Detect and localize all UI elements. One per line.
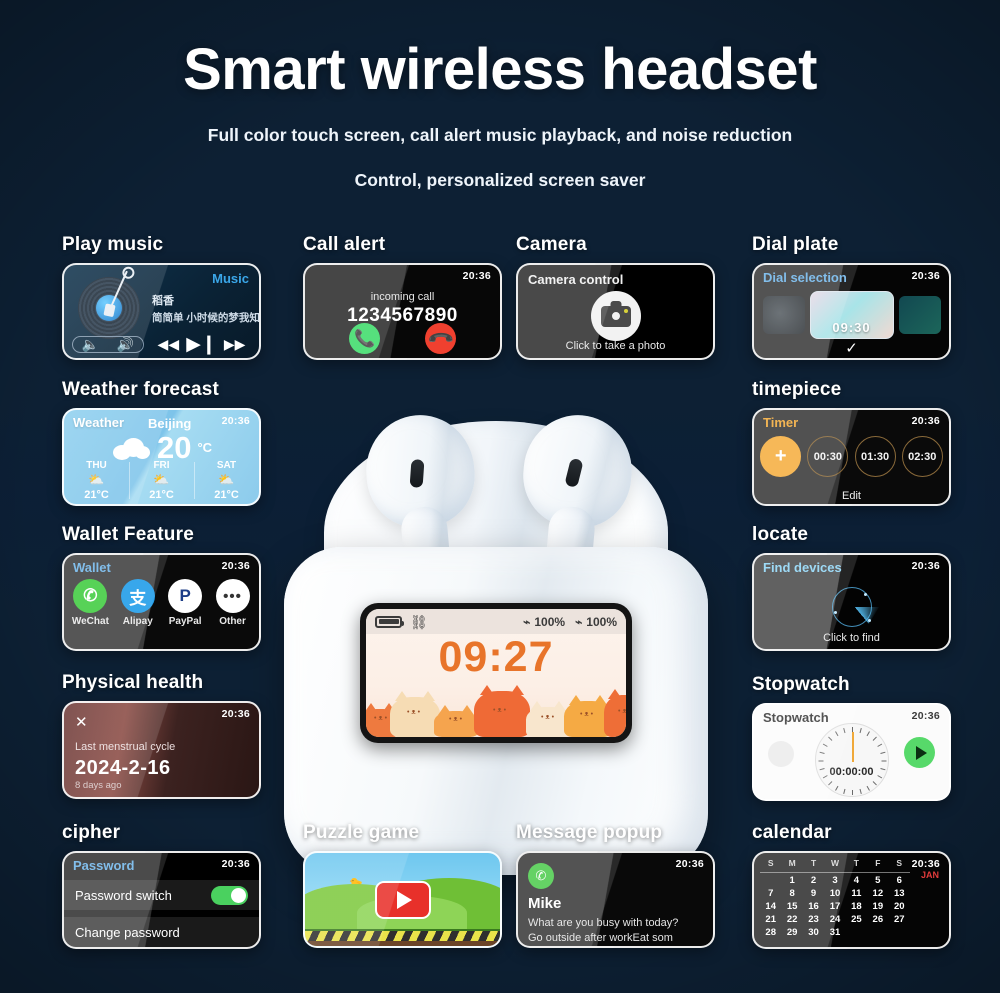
status-time: 20:36	[463, 270, 491, 282]
weather-day-name: SAT	[194, 460, 259, 471]
calendar-day[interactable]: 10	[824, 887, 845, 900]
stopwatch-start-button[interactable]	[904, 737, 935, 768]
wallet-screen[interactable]: Wallet 20:36 ✆WeChat支AlipayPPayPal•••Oth…	[62, 553, 261, 651]
camera-icon	[601, 306, 631, 327]
message-popup-screen[interactable]: ✆ 20:36 Mike What are you busy with toda…	[516, 851, 715, 948]
calendar-day[interactable]: 23	[803, 913, 824, 926]
stopwatch-tick	[843, 728, 845, 733]
locate-footer[interactable]: Click to find	[754, 632, 949, 644]
status-time: 20:36	[222, 708, 250, 720]
calendar-day[interactable]: 15	[781, 900, 802, 913]
feature-message-popup: Message popup ✆ 20:36 Mike What are you …	[516, 822, 715, 948]
calendar-weekday: T	[803, 857, 824, 870]
health-date: 2024-2-16	[75, 757, 171, 780]
feature-label-camera: Camera	[516, 234, 715, 256]
cloud-icon	[111, 436, 151, 460]
confirm-check-icon[interactable]: ✓	[754, 339, 949, 357]
feature-physical-health: Physical health ✕ 20:36 Last menstrual c…	[62, 672, 261, 799]
calendar-day[interactable]: 17	[824, 900, 845, 913]
calendar-day[interactable]: 3	[824, 874, 845, 887]
find-devices-title: Find devices	[763, 560, 842, 575]
feature-label-wallet: Wallet Feature	[62, 524, 261, 546]
calendar-day[interactable]: 18	[846, 900, 867, 913]
message-line-2: Go outside after workEat som	[528, 932, 673, 944]
weather-unit: °C	[197, 440, 212, 455]
calendar-week-row: 21222324252627	[760, 913, 910, 926]
weather-screen[interactable]: Weather Beijing 20:36 20 °C THU⛅21°CFRI⛅…	[62, 408, 261, 506]
feature-cipher: cipher Password 20:36 Password switch Ch…	[62, 822, 261, 949]
weather-day-name: FRI	[129, 460, 194, 471]
status-time: 20:36	[912, 270, 940, 282]
cat-figure: • ᴥ •	[604, 689, 626, 737]
stopwatch-tick	[880, 752, 885, 754]
calendar-day[interactable]: 9	[803, 887, 824, 900]
next-track-icon[interactable]: ▶▶	[224, 337, 246, 351]
feature-wallet: Wallet Feature Wallet 20:36 ✆WeChat支Alip…	[62, 524, 261, 651]
stopwatch-dial: 00:00:00	[815, 723, 889, 797]
camera-shutter-button[interactable]	[591, 291, 641, 341]
feature-label-puzzle-game: Puzzle game	[303, 822, 502, 844]
weather-day-icon: ⛅	[194, 472, 259, 488]
camera-screen[interactable]: Camera control Click to take a photo	[516, 263, 715, 360]
calendar-day[interactable]: 29	[781, 926, 802, 939]
link-icon: ⛓	[410, 615, 428, 629]
calendar-screen[interactable]: 20:36 JAN SMTWTFS12345678910111213141516…	[752, 851, 951, 949]
status-time: 20:36	[912, 858, 940, 870]
stopwatch-tick	[818, 761, 823, 762]
wallet-app-alipay[interactable]: 支Alipay	[117, 579, 159, 627]
calendar-weekday: T	[846, 857, 867, 870]
feature-puzzle-game: Puzzle game 🐤	[303, 822, 502, 948]
calendar-day-empty	[846, 926, 867, 939]
calendar-day[interactable]: 13	[889, 887, 910, 900]
wechat-icon: ✆	[528, 863, 554, 889]
feature-locate: locate Find devices 20:36 Click to find	[752, 524, 951, 651]
music-screen-title: Music	[212, 271, 249, 286]
battery-full-icon	[375, 616, 402, 628]
calendar-day[interactable]: 6	[889, 874, 910, 887]
message-line-1: What are you busy with today?	[528, 917, 678, 929]
calendar-day[interactable]: 1	[781, 874, 802, 887]
stopwatch-tick	[866, 731, 869, 736]
wallet-app-wechat[interactable]: ✆WeChat	[69, 579, 111, 627]
calendar-day[interactable]: 28	[760, 926, 781, 939]
left-bud-percent: 100%	[534, 615, 565, 629]
feature-call-alert: Call alert 20:36 incoming call 123456789…	[303, 234, 502, 360]
wallet-app-paypal[interactable]: PPayPal	[164, 579, 206, 627]
left-bud-battery: ⌁ 100%	[523, 615, 565, 629]
volume-up-icon[interactable]: 🔊	[117, 337, 134, 351]
calendar-day[interactable]: 25	[846, 913, 867, 926]
feature-weather-forecast: Weather forecast Weather Beijing 20:36 2…	[62, 379, 261, 506]
calendar-day[interactable]: 16	[803, 900, 824, 913]
call-alert-screen[interactable]: 20:36 incoming call 1234567890 📞 📞	[303, 263, 502, 360]
stopwatch-tick	[835, 786, 838, 791]
calendar-day[interactable]: 11	[846, 887, 867, 900]
calendar-day-empty	[867, 926, 888, 939]
calendar-day[interactable]: 19	[867, 900, 888, 913]
timer-edit-button[interactable]: Edit	[754, 490, 949, 502]
stopwatch-tick	[822, 744, 827, 747]
password-switch-row[interactable]: Password switch	[64, 880, 259, 910]
health-caption: Last menstrual cycle	[75, 741, 175, 753]
play-music-screen[interactable]: Music 稻香 简简单 小时候的梦我知道 🔈 🔊 ◀◀ ▶❙ ▶▶	[62, 263, 261, 360]
right-bud-percent: 100%	[586, 615, 617, 629]
weather-day-temp: 21°C	[194, 489, 259, 501]
calendar-day[interactable]: 8	[781, 887, 802, 900]
song-artist: 简简单 小时候的梦我知道	[152, 310, 261, 325]
calendar-week-row: 14151617181920	[760, 900, 910, 913]
calendar-day[interactable]: 7	[760, 887, 781, 900]
weather-temperature: 20	[157, 432, 191, 463]
feature-timepiece: timepiece Timer 20:36 +00:3001:3002:30 E…	[752, 379, 951, 506]
cipher-screen[interactable]: Password 20:36 Password switch Change pa…	[62, 851, 261, 949]
weather-day-name: THU	[64, 460, 129, 471]
timer-preset[interactable]: 01:30	[855, 436, 896, 477]
feature-play-music: Play music Music 稻香 简简单 小时候的梦我知道 🔈 🔊 ◀◀ …	[62, 234, 261, 360]
alipay-icon: 支	[121, 579, 155, 613]
feature-label-physical-health: Physical health	[62, 672, 261, 694]
calendar-weekday: M	[781, 857, 802, 870]
password-switch-label: Password switch	[75, 888, 172, 903]
camera-footer: Click to take a photo	[518, 340, 713, 352]
stopwatch-tick	[872, 737, 876, 741]
stopwatch-tick	[866, 786, 869, 791]
calendar-day[interactable]: 4	[846, 874, 867, 887]
feature-camera: Camera Camera control Click to take a ph…	[516, 234, 715, 360]
dial-preview-time: 09:30	[832, 320, 870, 335]
radar-icon	[824, 579, 880, 635]
calendar-day[interactable]: 30	[803, 926, 824, 939]
weather-forecast-days: THU⛅21°CFRI⛅21°CSAT⛅21°C	[64, 460, 259, 501]
play-triangle-icon	[916, 746, 927, 760]
calendar-day[interactable]: 5	[867, 874, 888, 887]
stopwatch-screen-title: Stopwatch	[763, 710, 829, 725]
calendar-day[interactable]: 26	[867, 913, 888, 926]
timer-screen[interactable]: Timer 20:36 +00:3001:3002:30 Edit	[752, 408, 951, 506]
weather-city: Beijing	[148, 416, 191, 431]
cartoon-cats-wallpaper: • ᴥ •• ᴥ •• ᴥ •• ᴥ •• ᴥ •• ᴥ •• ᴥ •	[366, 679, 626, 737]
stopwatch-tick	[859, 789, 861, 794]
calendar-day[interactable]: 12	[867, 887, 888, 900]
cat-figure: • ᴥ •	[390, 691, 440, 737]
wallet-app-list: ✆WeChat支AlipayPPayPal•••Other	[64, 579, 259, 627]
puzzle-game-screen[interactable]: 🐤	[303, 851, 502, 948]
stopwatch-tick	[859, 728, 861, 733]
paypal-icon: P	[168, 579, 202, 613]
calendar-week-row: 78910111213	[760, 887, 910, 900]
device-clock: 09:27	[366, 636, 626, 679]
device-touch-screen[interactable]: ⛓ ⌁ 100% ⌁ 100% 09:27 • ᴥ •• ᴥ •• ᴥ •• ᴥ…	[360, 603, 632, 743]
calendar-day-empty	[889, 926, 910, 939]
weather-day: FRI⛅21°C	[129, 460, 194, 501]
calendar-day[interactable]: 31	[824, 926, 845, 939]
stopwatch-tick	[819, 752, 824, 754]
previous-track-icon[interactable]: ◀◀	[158, 337, 180, 351]
health-days-ago: 8 days ago	[75, 780, 121, 791]
locate-screen[interactable]: Find devices 20:36 Click to find	[752, 553, 951, 651]
decline-call-button[interactable]: 📞	[425, 323, 456, 354]
stopwatch-tick	[852, 727, 853, 732]
cat-figure: • ᴥ •	[434, 705, 478, 737]
accept-call-button[interactable]: 📞	[349, 323, 380, 354]
stopwatch-tick	[835, 731, 838, 736]
stopwatch-tick	[852, 790, 853, 795]
volume-down-icon[interactable]: 🔈	[82, 337, 99, 351]
feature-label-calendar: calendar	[752, 822, 951, 844]
music-control-bar: 🔈 🔊 ◀◀ ▶❙ ▶▶	[64, 330, 259, 358]
dirt-strip	[305, 941, 500, 946]
stopwatch-tick	[828, 737, 832, 741]
stopwatch-screen[interactable]: Stopwatch 20:36 00:00:00	[752, 703, 951, 801]
status-time: 20:36	[912, 560, 940, 572]
calendar-weekday: F	[867, 857, 888, 870]
dial-option-selected[interactable]: 09:30	[810, 291, 894, 339]
dial-option-next[interactable]	[899, 296, 941, 334]
feature-label-timepiece: timepiece	[752, 379, 951, 401]
timer-preset-list: +00:3001:3002:30	[754, 436, 949, 477]
status-time: 20:36	[222, 415, 250, 427]
page-subtitle-2: Control, personalized screen saver	[0, 170, 1000, 191]
change-password-row[interactable]: Change password	[64, 917, 259, 947]
stopwatch-hand	[852, 732, 854, 762]
other-icon: •••	[216, 579, 250, 613]
wallet-screen-title: Wallet	[73, 560, 111, 575]
feature-label-cipher: cipher	[62, 822, 261, 844]
calendar-day[interactable]: 2	[803, 874, 824, 887]
play-game-button[interactable]	[375, 881, 431, 919]
password-toggle[interactable]	[211, 886, 248, 905]
status-time: 20:36	[912, 415, 940, 427]
change-password-label: Change password	[75, 925, 180, 940]
wallet-app-label: PayPal	[164, 616, 206, 627]
password-screen-title: Password	[73, 858, 134, 873]
calendar-grid[interactable]: SMTWTFS123456789101112131415161718192021…	[760, 857, 910, 939]
right-bud-battery: ⌁ 100%	[575, 615, 617, 629]
timer-screen-title: Timer	[763, 415, 798, 430]
weather-day-icon: ⛅	[64, 472, 129, 488]
feature-label-weather: Weather forecast	[62, 379, 261, 401]
wallet-app-other[interactable]: •••Other	[212, 579, 254, 627]
stopwatch-tick	[881, 761, 886, 762]
play-triangle-icon	[397, 891, 412, 909]
earbud-case-illustration: ⛓ ⌁ 100% ⌁ 100% 09:27 • ᴥ •• ᴥ •• ᴥ •• ᴥ…	[268, 395, 732, 875]
calendar-day[interactable]: 27	[889, 913, 910, 926]
calendar-weekday: S	[889, 857, 910, 870]
feature-label-dial-plate: Dial plate	[752, 234, 951, 256]
calendar-weekday-header: SMTWTFS	[760, 857, 910, 873]
calendar-month: JAN	[921, 870, 939, 880]
camera-lens-icon	[610, 310, 622, 322]
wechat-icon: ✆	[73, 579, 107, 613]
calendar-day[interactable]: 24	[824, 913, 845, 926]
message-sender: Mike	[528, 895, 561, 912]
left-bud-icon: ⌁	[523, 615, 530, 629]
calendar-day[interactable]: 22	[781, 913, 802, 926]
weather-day: THU⛅21°C	[64, 460, 129, 501]
page-subtitle-1: Full color touch screen, call alert musi…	[0, 125, 1000, 146]
feature-stopwatch: Stopwatch Stopwatch 20:36 00:00:00	[752, 674, 951, 801]
calendar-weekday: W	[824, 857, 845, 870]
feature-label-locate: locate	[752, 524, 951, 546]
earbud-left-mesh	[410, 459, 425, 488]
camera-screen-title: Camera control	[528, 272, 623, 287]
timer-add-button[interactable]: +	[760, 436, 801, 477]
camera-flash-icon	[624, 309, 628, 313]
status-time: 20:36	[222, 858, 250, 870]
calendar-weekday: S	[760, 857, 781, 870]
feature-calendar: calendar 20:36 JAN SMTWTFS12345678910111…	[752, 822, 951, 949]
weather-day-temp: 21°C	[64, 489, 129, 501]
weather-day-icon: ⛅	[129, 472, 194, 488]
weather-day: SAT⛅21°C	[194, 460, 259, 501]
physical-health-screen[interactable]: ✕ 20:36 Last menstrual cycle 2024-2-16 8…	[62, 701, 261, 799]
dial-plate-screen[interactable]: Dial selection 20:36 09:30 ✓	[752, 263, 951, 360]
feature-label-stopwatch: Stopwatch	[752, 674, 951, 696]
page-header: Smart wireless headset Full color touch …	[0, 0, 1000, 191]
page-title: Smart wireless headset	[0, 36, 1000, 103]
feature-label-play-music: Play music	[62, 234, 261, 256]
weather-screen-title: Weather	[73, 415, 124, 430]
close-icon[interactable]: ✕	[75, 713, 88, 731]
dial-selection-title: Dial selection	[763, 270, 847, 285]
song-title: 稻香	[152, 292, 174, 308]
stopwatch-tick	[828, 781, 832, 785]
weather-day-temp: 21°C	[129, 489, 194, 501]
calendar-day[interactable]: 20	[889, 900, 910, 913]
incoming-call-caption: incoming call	[305, 291, 500, 303]
status-time: 20:36	[676, 858, 704, 870]
wallet-app-label: Alipay	[117, 616, 159, 627]
stopwatch-tick	[843, 789, 845, 794]
calendar-day-empty	[760, 874, 781, 887]
feature-label-message-popup: Message popup	[516, 822, 715, 844]
play-pause-icon[interactable]: ▶❙	[186, 335, 217, 354]
timer-preset[interactable]: 02:30	[902, 436, 943, 477]
wallet-app-label: Other	[212, 616, 254, 627]
lap-button[interactable]	[768, 741, 794, 767]
wallet-app-label: WeChat	[69, 616, 111, 627]
cat-figure: • ᴥ •	[474, 685, 530, 737]
feature-label-call-alert: Call alert	[303, 234, 502, 256]
status-time: 20:36	[222, 560, 250, 572]
stopwatch-tick	[877, 744, 882, 747]
right-bud-icon: ⌁	[575, 615, 582, 629]
stopwatch-tick	[872, 781, 876, 785]
volume-control[interactable]: 🔈 🔊	[72, 336, 144, 353]
phone-hangup-icon: 📞	[426, 324, 455, 353]
calendar-week-row: 123456	[760, 874, 910, 887]
feature-dial-plate: Dial plate Dial selection 20:36 09:30 ✓	[752, 234, 951, 360]
calendar-day[interactable]: 14	[760, 900, 781, 913]
calendar-day[interactable]: 21	[760, 913, 781, 926]
timer-preset[interactable]: 00:30	[807, 436, 848, 477]
dial-option-previous[interactable]	[763, 296, 805, 334]
device-status-bar: ⛓ ⌁ 100% ⌁ 100%	[366, 609, 626, 634]
status-time: 20:36	[912, 710, 940, 722]
phone-icon: 📞	[354, 329, 375, 349]
calendar-week-row: 28293031	[760, 926, 910, 939]
